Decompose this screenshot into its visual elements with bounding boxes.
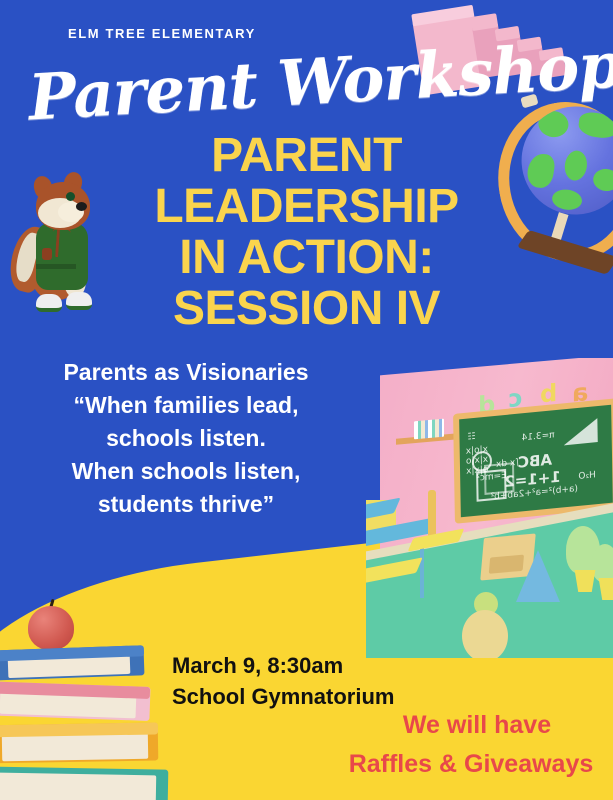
quote-line-5: students thrive” bbox=[0, 488, 372, 521]
headline-line-1: PARENT bbox=[0, 130, 613, 181]
book-stack-icon bbox=[0, 606, 196, 800]
classroom-scene-icon: d c b a ABC 1+1=2 π=3.14 ∫x dx (a+b)²=a²… bbox=[366, 358, 613, 658]
apple-icon bbox=[28, 606, 74, 650]
school-name-kicker: ELM TREE ELEMENTARY bbox=[68, 26, 256, 41]
promo-line-2: Raffles & Giveaways bbox=[336, 745, 606, 784]
headline-line-4: SESSION IV bbox=[0, 283, 613, 334]
event-datetime: March 9, 8:30am bbox=[172, 650, 394, 681]
quote-block: Parents as Visionaries “When families le… bbox=[0, 356, 372, 521]
quote-line-2: “When families lead, bbox=[0, 389, 372, 422]
poster-canvas: d c b a ABC 1+1=2 π=3.14 ∫x dx (a+b)²=a²… bbox=[0, 0, 613, 800]
headline-title: PARENT LEADERSHIP IN ACTION: SESSION IV bbox=[0, 130, 613, 334]
quote-line-3: schools listen. bbox=[0, 422, 372, 455]
quote-line-1: Parents as Visionaries bbox=[0, 356, 372, 389]
promo-block: We will have Raffles & Giveaways bbox=[348, 706, 606, 784]
event-details: March 9, 8:30am School Gymnatorium bbox=[172, 650, 394, 712]
headline-line-3: IN ACTION: bbox=[0, 232, 613, 283]
chalkboard: ABC 1+1=2 π=3.14 ∫x dx (a+b)²=a²+2ab+b² … bbox=[453, 398, 613, 524]
promo-line-1: We will have bbox=[348, 706, 606, 745]
quote-line-4: When schools listen, bbox=[0, 455, 372, 488]
headline-line-2: LEADERSHIP bbox=[0, 181, 613, 232]
